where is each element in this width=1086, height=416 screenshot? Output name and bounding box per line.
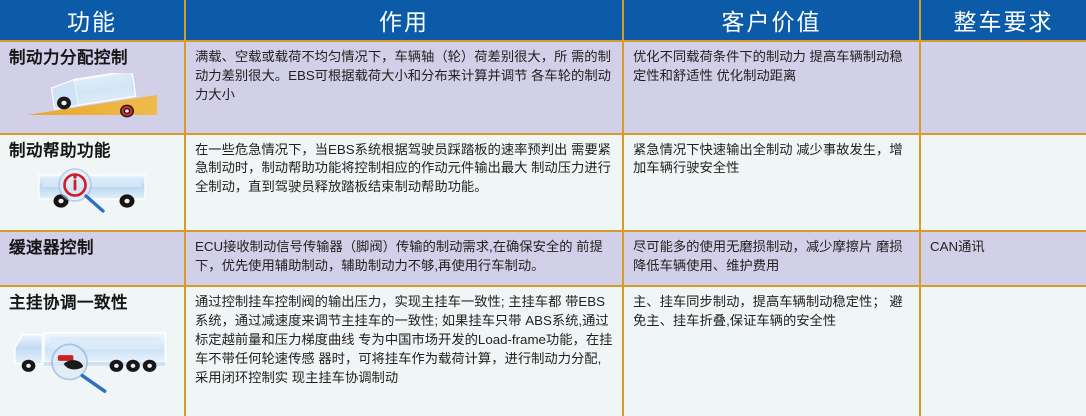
table-body: 制动力分配控制 <box>0 41 1086 416</box>
header-row: 功能 作用 客户价值 整车要求 <box>0 0 1086 41</box>
truck-on-slope-icon <box>9 73 175 119</box>
cell-duty: 通过控制挂车控制阀的输出压力，实现主挂车一致性; 主挂车都 带EBS系统，通过减… <box>185 286 623 416</box>
cell-duty: ECU接收制动信号传输器（脚阀）传输的制动需求,在确保安全的 前提下，优先使用辅… <box>185 231 623 287</box>
table-row: 缓速器控制 ECU接收制动信号传输器（脚阀）传输的制动需求,在确保安全的 前提下… <box>0 231 1086 287</box>
semi-trailer-with-magnifier-icon <box>9 318 175 398</box>
cell-requirement <box>920 41 1086 134</box>
cell-value: 紧急情况下快速输出全制动 减少事故发生，增加车辆行驶安全性 <box>623 134 920 231</box>
cell-requirement <box>920 286 1086 416</box>
cell-requirement <box>920 134 1086 231</box>
cell-value: 尽可能多的使用无磨损制动，减少摩擦片 磨损 降低车辆使用、维护费用 <box>623 231 920 287</box>
table-row: 主挂协调一致性 <box>0 286 1086 416</box>
cell-requirement: CAN通讯 <box>920 231 1086 287</box>
function-name: 制动帮助功能 <box>9 141 175 162</box>
column-header-value: 客户价值 <box>623 0 920 41</box>
function-name: 缓速器控制 <box>9 238 175 259</box>
cell-duty: 在一些危急情况下，当EBS系统根据驾驶员踩踏板的速率预判出 需要紧急制动时，制动… <box>185 134 623 231</box>
cell-value: 优化不同载荷条件下的制动力 提高车辆制动稳定性和舒适性 优化制动距离 <box>623 41 920 134</box>
bus-with-magnifier-icon <box>9 165 175 215</box>
function-name: 制动力分配控制 <box>9 48 175 69</box>
function-name: 主挂协调一致性 <box>9 293 175 314</box>
cell-function: 缓速器控制 <box>0 231 185 287</box>
cell-function: 制动力分配控制 <box>0 41 185 134</box>
cell-value: 主、挂车同步制动，提高车辆制动稳定性； 避免主、挂车折叠,保证车辆的安全性 <box>623 286 920 416</box>
feature-table: 功能 作用 客户价值 整车要求 制动力分配控制 <box>0 0 1086 416</box>
column-header-function: 功能 <box>0 0 185 41</box>
table-header: 功能 作用 客户价值 整车要求 <box>0 0 1086 41</box>
cell-function: 主挂协调一致性 <box>0 286 185 416</box>
column-header-requirement: 整车要求 <box>920 0 1086 41</box>
table-row: 制动力分配控制 <box>0 41 1086 134</box>
cell-duty: 满载、空载或载荷不均匀情况下，车辆轴（轮）荷差别很大，所 需的制动力差别很大。E… <box>185 41 623 134</box>
table-row: 制动帮助功能 <box>0 134 1086 231</box>
column-header-duty: 作用 <box>185 0 623 41</box>
cell-function: 制动帮助功能 <box>0 134 185 231</box>
